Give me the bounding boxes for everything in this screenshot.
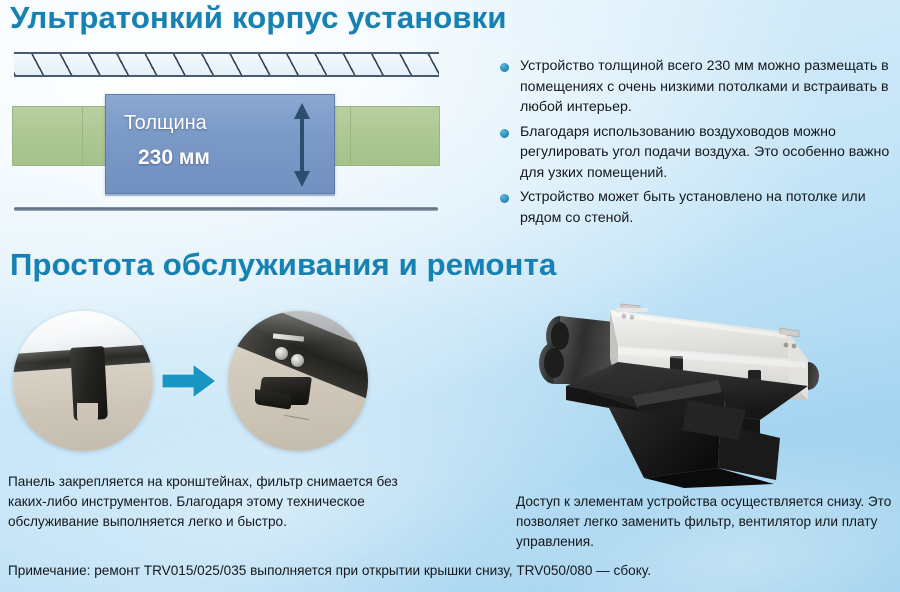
list-item: Устройство может быть установлено на пот…: [500, 187, 892, 228]
caption-left: Панель закрепляется на кронштейнах, филь…: [8, 472, 438, 532]
footnote: Примечание: ремонт TRV015/025/035 выполн…: [8, 563, 651, 578]
section-heading-thin-body: Ультратонкий корпус установки: [10, 0, 507, 36]
caption-right: Доступ к элементам устройства осуществля…: [516, 492, 892, 552]
list-item: Устройство толщиной всего 230 мм можно р…: [500, 56, 892, 118]
list-item-text: Устройство толщиной всего 230 мм можно р…: [520, 56, 892, 118]
hatched-ceiling-icon: [14, 52, 439, 77]
arrow-right-icon: [160, 361, 218, 401]
thickness-label: Толщина: [124, 112, 207, 135]
floor-line: [14, 207, 438, 211]
list-item: Благодаря использованию воздуховодов мож…: [500, 122, 892, 184]
unit-base-line: [105, 194, 335, 196]
bullet-dot-icon: [500, 194, 509, 203]
slide-root: Ультратонкий корпус установки Толщина 23…: [0, 0, 900, 592]
section-heading-maintenance: Простота обслуживания и ремонта: [10, 247, 556, 283]
thickness-diagram: Толщина 230 мм: [0, 44, 470, 224]
bracket-clip-photo: [13, 311, 153, 451]
list-item-text: Благодаря использованию воздуховодов мож…: [520, 122, 892, 184]
latch-detail-photo: [228, 311, 368, 451]
thickness-value: 230 мм: [138, 146, 210, 170]
ventilation-unit-photo: [488, 288, 888, 493]
maintenance-photos: [0, 295, 470, 475]
air-duct-right-icon: [350, 106, 440, 166]
double-arrow-vertical-icon: [291, 103, 313, 187]
feature-bullet-list: Устройство толщиной всего 230 мм можно р…: [500, 56, 892, 232]
bullet-dot-icon: [500, 63, 509, 72]
bullet-dot-icon: [500, 129, 509, 138]
list-item-text: Устройство может быть установлено на пот…: [520, 187, 892, 228]
unit-thickness-box: Толщина 230 мм: [105, 94, 335, 194]
